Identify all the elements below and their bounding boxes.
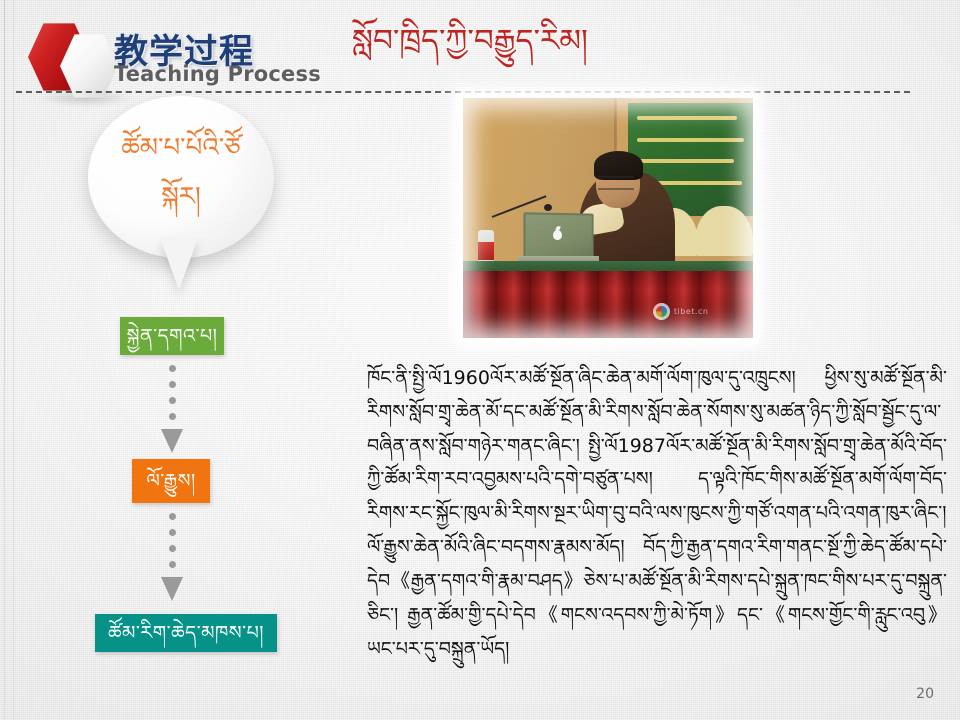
left-edge-line xyxy=(4,0,5,720)
callout-line-1: ཚོམ་པ་པོའི་ཙོ xyxy=(88,124,274,173)
flow-step-2[interactable]: ལོ་རྒྱུས། xyxy=(132,459,210,503)
water-bottle-label xyxy=(478,242,494,260)
watermark-circle-icon xyxy=(653,303,670,320)
connector-dot xyxy=(169,513,176,520)
connector-dot xyxy=(169,561,176,568)
header-title-english: Teaching Process xyxy=(114,62,321,86)
callout-bubble-tail xyxy=(160,238,198,290)
connector-dot xyxy=(169,545,176,552)
slide-title-tibetan: སློབ་ཁྲིད་ཀྱི་བརྒྱུད་རིམ། xyxy=(330,22,610,61)
left-edge-line-secondary xyxy=(13,0,14,720)
photo-content: tibet.cn xyxy=(463,98,753,338)
flow-step-1[interactable]: སྐྱེན་དགའ་པ། xyxy=(120,317,224,355)
connector-dot xyxy=(169,397,176,404)
arrow-down-icon xyxy=(161,429,183,453)
connector-dot xyxy=(169,381,176,388)
watermark-label: tibet.cn xyxy=(674,307,709,316)
speaker-glasses-icon xyxy=(598,176,634,190)
flow-connector-2 xyxy=(160,513,184,601)
callout-line-2: སྐོར། xyxy=(88,173,274,222)
connector-dot xyxy=(169,413,176,420)
connector-dot xyxy=(169,529,176,536)
banner-text-line xyxy=(637,138,744,142)
flow-connector-1 xyxy=(160,365,184,453)
speaker-photo: tibet.cn xyxy=(463,98,753,338)
flow-step-3[interactable]: ཚོམ་རིག་ཆེད་མཁས་པ། xyxy=(95,614,277,652)
microphone-head-icon xyxy=(544,204,552,211)
page-number: 20 xyxy=(916,686,934,702)
slide-canvas: 教学过程 Teaching Process སློབ་ཁྲིད་ཀྱི་བརྒྱ… xyxy=(0,0,960,720)
header-divider xyxy=(16,91,910,93)
photo-watermark: tibet.cn xyxy=(653,301,727,321)
apple-logo-icon xyxy=(553,230,562,240)
callout-text: ཚོམ་པ་པོའི་ཙོ སྐོར། xyxy=(88,124,274,223)
body-paragraph: ཁོང་ནི་སྤྱི་ལོ1960ལོར་མཚོ་སྔོན་ཞིང་ཆེན་མ… xyxy=(367,362,947,666)
arrow-down-icon xyxy=(161,577,183,601)
connector-dot xyxy=(169,365,176,372)
banner-text-line xyxy=(637,116,737,120)
banner-text-line xyxy=(637,159,734,163)
